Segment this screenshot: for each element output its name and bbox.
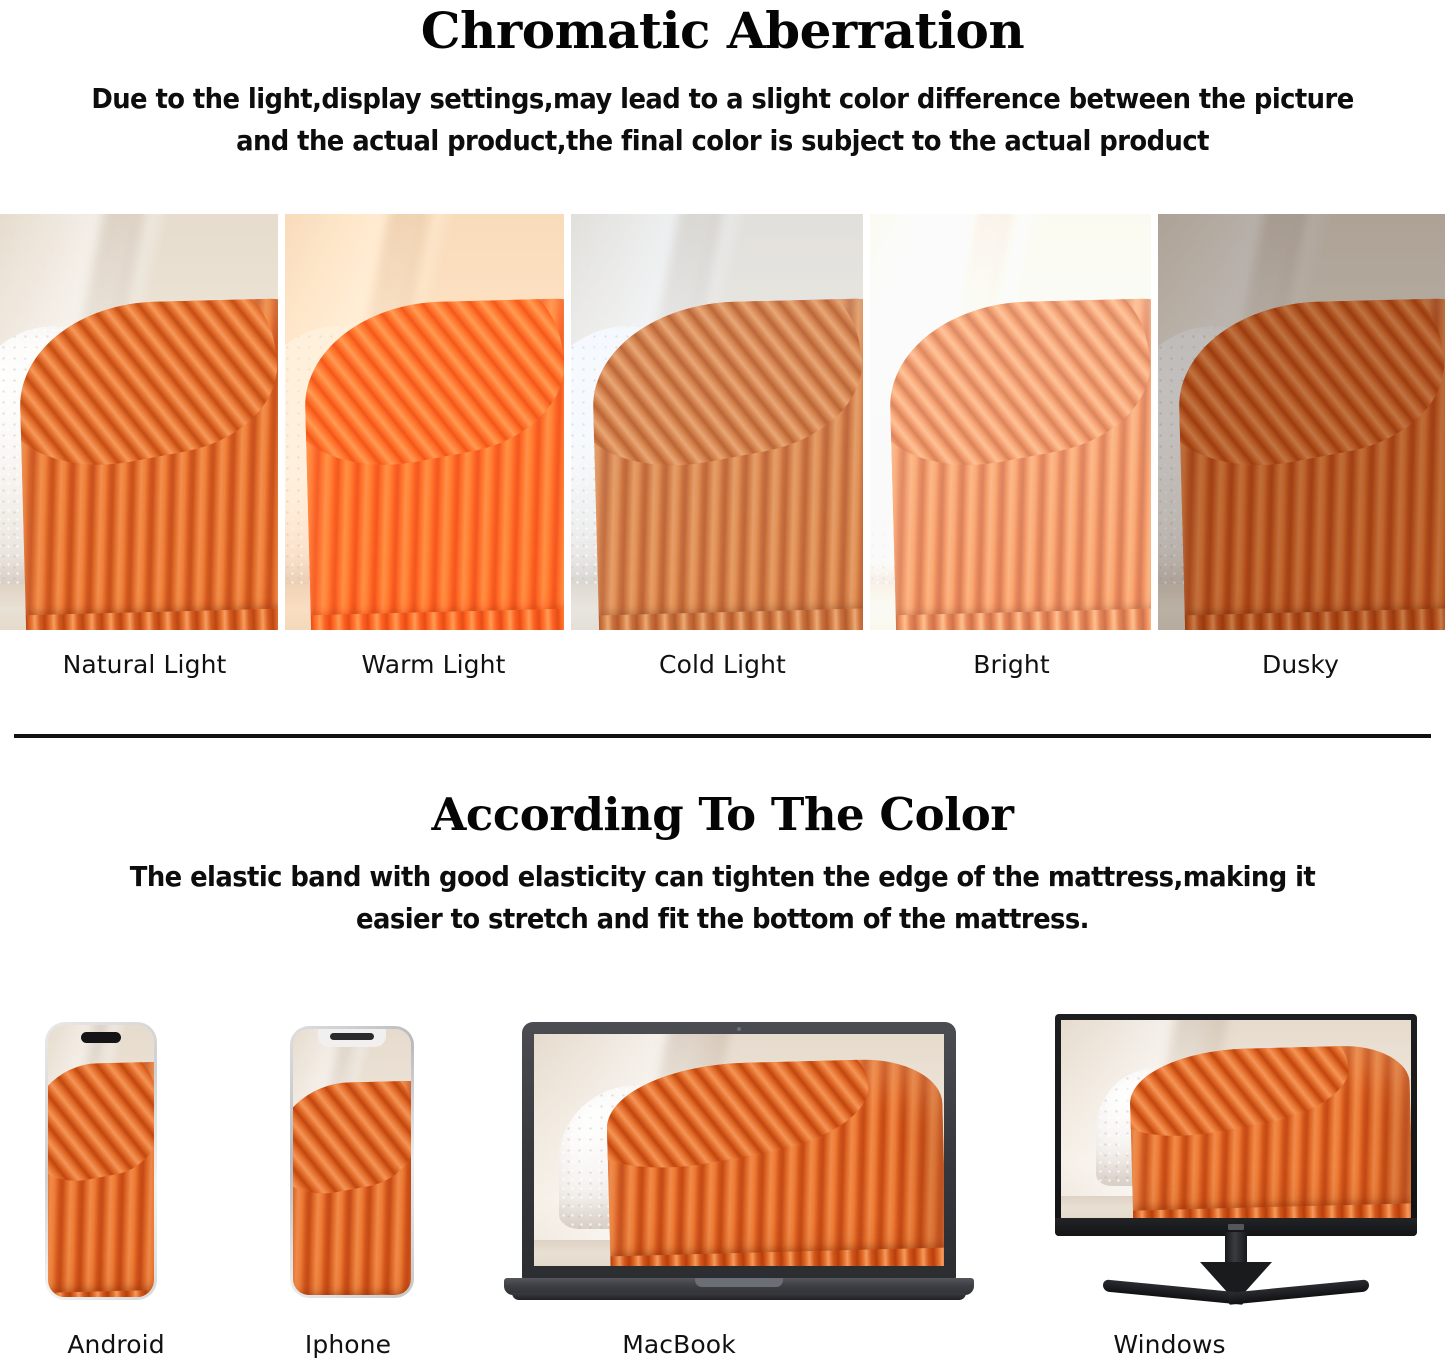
orange-ribbed-blanket (303, 297, 565, 630)
caption-cold-light: Cold Light (578, 650, 867, 686)
macbook-screen (534, 1034, 944, 1266)
iphone-speaker-icon (330, 1033, 374, 1040)
orange-ribbed-blanket (590, 297, 863, 630)
swatch-cold-light (571, 214, 863, 630)
orange-ribbed-blanket (1177, 297, 1445, 630)
device-windows-monitor (1055, 1014, 1417, 1314)
blanket-photo (571, 214, 863, 630)
blanket-photo (0, 214, 278, 630)
blanket-photo (1158, 214, 1445, 630)
blanket-photo (1061, 1020, 1411, 1218)
iphone-notch-icon (318, 1029, 386, 1047)
caption-iphone: Iphone (232, 1330, 464, 1368)
blanket-photo (870, 214, 1152, 630)
swatch-dusky (1158, 214, 1445, 630)
caption-dusky: Dusky (1156, 650, 1445, 686)
android-camera-pill-icon (81, 1032, 121, 1043)
monitor-frame (1055, 1014, 1417, 1236)
caption-natural-light: Natural Light (0, 650, 289, 686)
caption-windows: Windows (894, 1330, 1445, 1368)
swatch-bright (870, 214, 1152, 630)
according-to-the-color-title: According To The Color (0, 788, 1445, 842)
macbook-lid-notch (695, 1278, 783, 1287)
orange-ribbed-blanket (293, 1080, 411, 1295)
blanket-photo (48, 1025, 154, 1297)
caption-macbook: MacBook (464, 1330, 894, 1368)
device-macbook (504, 1022, 974, 1312)
blanket-photo (534, 1034, 944, 1266)
infographic-page: Chromatic Aberration Due to the light,di… (0, 0, 1445, 1371)
blanket-photo (285, 214, 565, 630)
monitor-screen (1061, 1020, 1411, 1218)
macbook-lid (522, 1022, 956, 1280)
macbook-webcam-icon (737, 1027, 741, 1031)
chromatic-aberration-title: Chromatic Aberration (0, 0, 1445, 60)
swatch-natural-light (0, 214, 278, 630)
blanket-photo (293, 1029, 411, 1295)
caption-android: Android (0, 1330, 232, 1368)
caption-bright: Bright (867, 650, 1156, 686)
orange-ribbed-blanket (18, 297, 278, 630)
device-android-phone (45, 1022, 157, 1300)
light-caption-row: Natural Light Warm Light Cold Light Brig… (0, 650, 1445, 686)
color-section: According To The Color The elastic band … (0, 788, 1445, 940)
swatch-warm-light (285, 214, 565, 630)
device-gallery (0, 1008, 1445, 1318)
orange-ribbed-blanket (888, 297, 1152, 630)
monitor-brand-logo (1228, 1224, 1244, 1230)
orange-ribbed-blanket (1129, 1044, 1411, 1218)
light-condition-gallery (0, 214, 1445, 630)
device-caption-row: Android Iphone MacBook Windows (0, 1330, 1445, 1368)
according-to-the-color-description: The elastic band with good elasticity ca… (43, 856, 1401, 940)
iphone-screen (293, 1029, 411, 1295)
chromatic-aberration-description: Due to the light,display settings,may le… (43, 78, 1401, 162)
section-divider (14, 734, 1431, 738)
macbook-foot (512, 1293, 966, 1300)
orange-ribbed-blanket (48, 1061, 154, 1297)
device-iphone (290, 1026, 414, 1298)
caption-warm-light: Warm Light (289, 650, 578, 686)
android-screen (48, 1025, 154, 1297)
orange-ribbed-blanket (605, 1057, 944, 1266)
